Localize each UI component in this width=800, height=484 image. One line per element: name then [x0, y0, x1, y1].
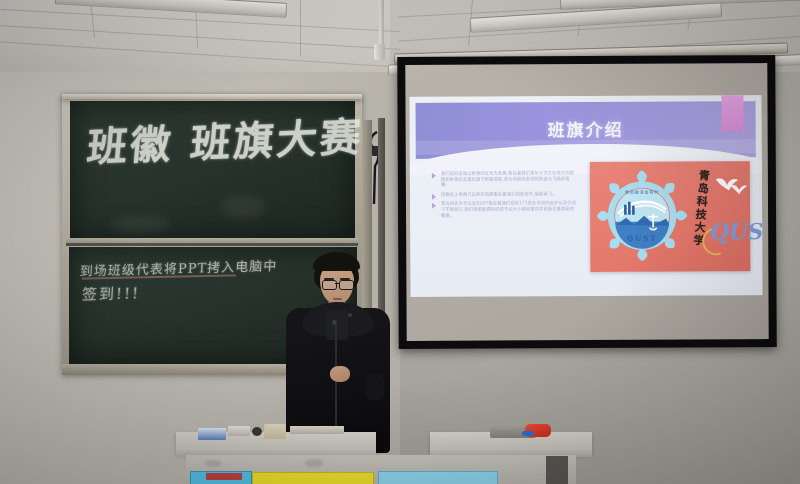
svg-text:QUST: QUST [627, 234, 658, 243]
blackboard-note-line2: 签到!!! [81, 282, 140, 305]
classroom-photo: 班徽 班旗大赛 到场班级代表将PPT拷入电脑中 签到!!! 班旗介绍 我们班的班 [0, 0, 800, 484]
slide-title: 班旗介绍 [410, 115, 762, 142]
desk-side-gap [546, 456, 568, 484]
chalk-tray-shadow [66, 243, 358, 246]
list-item: 班旗右上角两只白色的海燕象征着我们团结合作,展翅高飞。 [432, 191, 577, 197]
ships-wheel-logo-icon: QUST 乘风破浪会有时 [596, 169, 688, 261]
bullet-text: 青岛科技大学以及QUST象征着我们招标171班在学校的庇护以及引领下不断前行,我… [441, 200, 577, 217]
blackboard-headline: 班徽 班旗大赛 [85, 105, 366, 174]
hair-fringe [313, 252, 360, 271]
bullet-marker-icon [432, 203, 436, 209]
desk-scuff [205, 460, 221, 467]
inner-shirt [326, 310, 348, 340]
qust-wordmark: QUST [710, 219, 762, 245]
hand [330, 366, 350, 382]
desk-paper [290, 426, 344, 434]
blue-strap [522, 431, 534, 436]
student-presenter [278, 250, 408, 450]
coat-button [348, 313, 352, 317]
coat-pocket [366, 374, 384, 400]
mouth [333, 298, 342, 300]
bullet-marker-icon [432, 173, 436, 179]
glasses-lens [339, 280, 354, 290]
conduit-junction-box [374, 44, 385, 60]
coat-button [332, 320, 337, 325]
bullet-marker-icon [432, 194, 436, 200]
chalk-smudge [220, 195, 266, 219]
chalk-smudge [110, 215, 170, 233]
list-item: 青岛科技大学以及QUST象征着我们招标171班在学校的庇护以及引领下不断前行,我… [432, 200, 577, 218]
glasses-lens [322, 280, 337, 290]
sticker-label-text [206, 473, 242, 480]
sticker-label-right [378, 471, 498, 484]
desk-scuff [305, 459, 323, 467]
small-device [252, 427, 262, 436]
slide-bullet-list: 我们班的班旗以鲜艳的红色为背景,象征着我们青年大学生在伟大的祖国和鲜艳的五星红旗… [432, 170, 577, 222]
paper-pile [228, 426, 250, 436]
book-stack [198, 428, 226, 440]
bullet-text: 班旗右上角两只白色的海燕象征着我们团结合作,展翅高飞。 [441, 191, 577, 197]
ceiling-tile-line [300, 0, 301, 56]
list-item: 我们班的班旗以鲜艳的红色为背景,象征着我们青年大学生在伟大的祖国和鲜艳的五星红旗… [432, 170, 577, 188]
blackboard-frame-top [62, 94, 362, 99]
class-flag-image: QUST 乘风破浪会有时 青岛科技大学 QUST [590, 161, 751, 272]
sticker-label-center [252, 472, 374, 484]
bird-icon [730, 183, 748, 198]
paper-cup [264, 424, 286, 439]
presentation-slide: 班旗介绍 我们班的班旗以鲜艳的红色为背景,象征着我们青年大学生在伟大的祖国和鲜艳… [409, 95, 762, 297]
bullet-text: 我们班的班旗以鲜艳的红色为背景,象征着我们青年大学生在伟大的祖国和鲜艳的五星红旗… [441, 170, 577, 187]
glasses-bridge [335, 283, 339, 284]
